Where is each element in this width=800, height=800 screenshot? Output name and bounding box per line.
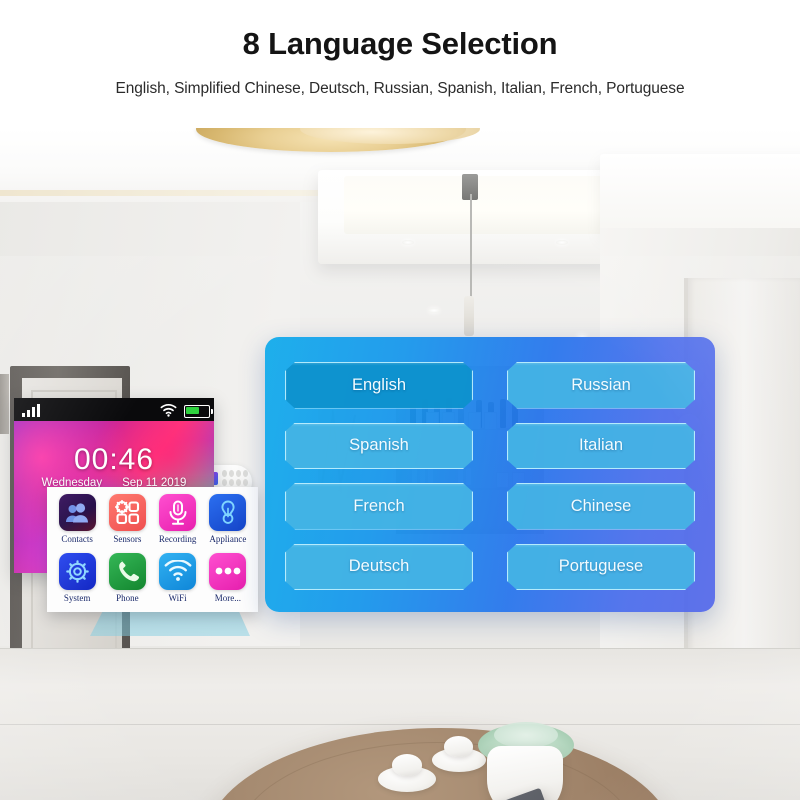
app-item-contacts[interactable]: Contacts [53, 494, 101, 550]
microphone-icon [159, 494, 196, 531]
contacts-icon [59, 494, 96, 531]
language-button-chinese[interactable]: Chinese [507, 483, 695, 530]
page-title: 8 Language Selection [0, 26, 800, 62]
language-button-french[interactable]: French [285, 483, 473, 530]
thermostat-icon [209, 494, 246, 531]
language-button-grid: English Russian Spanish Italian French C… [285, 362, 695, 590]
language-button-portuguese[interactable]: Portuguese [507, 544, 695, 591]
downlight-icon [428, 308, 440, 313]
floor-seam [0, 648, 800, 649]
pendant-cord [470, 194, 472, 298]
app-label: More... [215, 593, 241, 603]
gear-icon [59, 553, 96, 590]
ceiling-drop-panel-right [600, 154, 800, 234]
app-item-system[interactable]: System [53, 553, 101, 609]
app-label: Contacts [61, 534, 93, 544]
more-dots-icon [209, 553, 246, 590]
language-button-italian[interactable]: Italian [507, 423, 695, 470]
app-grid-popup: Contacts Sensors [47, 487, 258, 612]
app-label: System [64, 593, 91, 603]
phone-icon [109, 553, 146, 590]
app-item-more[interactable]: More... [204, 553, 252, 609]
language-selection-panel: English Russian Spanish Italian French C… [265, 337, 715, 612]
downlight-icon [556, 240, 568, 245]
app-item-phone[interactable]: Phone [103, 553, 151, 609]
language-button-deutsch[interactable]: Deutsch [285, 544, 473, 591]
monitor-clock: 00:46 [14, 443, 214, 477]
app-label: Phone [116, 593, 139, 603]
plant-leaves-inner [494, 722, 558, 748]
header: 8 Language Selection English, Simplified… [0, 0, 800, 128]
app-label: WiFi [169, 593, 187, 603]
coffee-cup [444, 736, 473, 757]
floor-seam [0, 724, 800, 725]
pendant-lamp [464, 296, 474, 336]
sensors-icon [109, 494, 146, 531]
app-item-recording[interactable]: Recording [154, 494, 202, 550]
battery-icon [184, 405, 210, 418]
wifi-icon [160, 403, 177, 417]
language-button-english[interactable]: English [285, 362, 473, 409]
app-label: Recording [159, 534, 197, 544]
coffee-cup [392, 754, 422, 776]
wall-corner-left [0, 374, 9, 434]
wifi-icon [159, 553, 196, 590]
language-button-russian[interactable]: Russian [507, 362, 695, 409]
page-root: 8 Language Selection English, Simplified… [0, 0, 800, 800]
app-item-wifi[interactable]: WiFi [154, 553, 202, 609]
signal-bars-icon [22, 404, 44, 417]
app-label: Appliance [209, 534, 246, 544]
app-item-appliance[interactable]: Appliance [204, 494, 252, 550]
app-grid: Contacts Sensors [53, 494, 252, 608]
downlight-icon [402, 240, 414, 245]
app-item-sensors[interactable]: Sensors [103, 494, 151, 550]
language-button-spanish[interactable]: Spanish [285, 423, 473, 470]
page-subtitle: English, Simplified Chinese, Deutsch, Ru… [0, 80, 800, 98]
app-label: Sensors [113, 534, 141, 544]
